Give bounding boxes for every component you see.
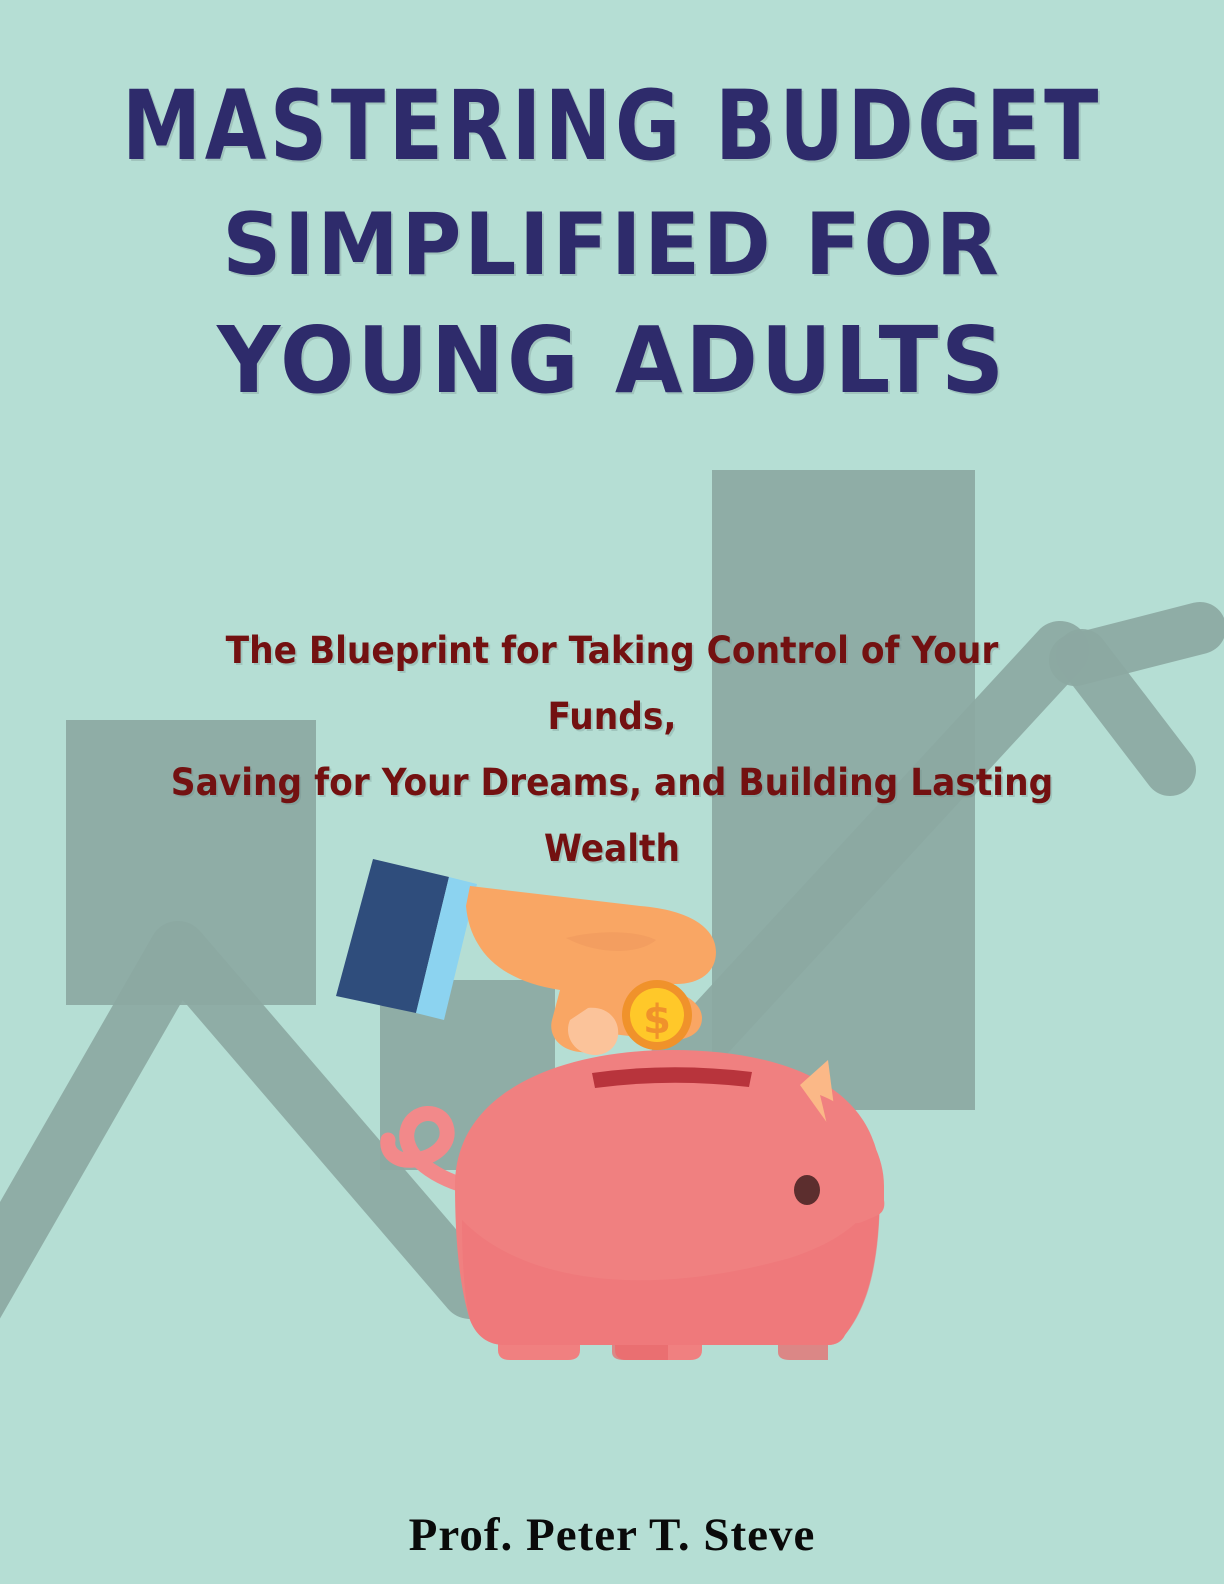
- cover-title: MASTERING BUDGET SIMPLIFIED FOR YOUNG AD…: [0, 78, 1224, 407]
- subtitle-line-3: Wealth: [156, 816, 1067, 882]
- dollar-coin: $: [622, 980, 692, 1050]
- piggy-tail: [388, 1113, 466, 1186]
- subtitle-line-1: The Blueprint for Taking Control of Your…: [156, 618, 1067, 750]
- title-line-2: SIMPLIFIED FOR: [31, 202, 1194, 290]
- title-line-3: YOUNG ADULTS: [31, 314, 1194, 408]
- book-cover: $ MASTERING BUDGET SIMPLIFIED FOR YOUNG …: [0, 0, 1224, 1584]
- piggy-bank-icon: [388, 1050, 885, 1360]
- subtitle-line-2: Saving for Your Dreams, and Building Las…: [156, 750, 1067, 816]
- cover-subtitle: The Blueprint for Taking Control of Your…: [122, 618, 1102, 881]
- author-name: Prof. Peter T. Steve: [0, 1508, 1224, 1562]
- coin-dollar-symbol: $: [643, 997, 671, 1043]
- piggy-eye: [794, 1175, 820, 1205]
- title-line-1: MASTERING BUDGET: [49, 78, 1175, 176]
